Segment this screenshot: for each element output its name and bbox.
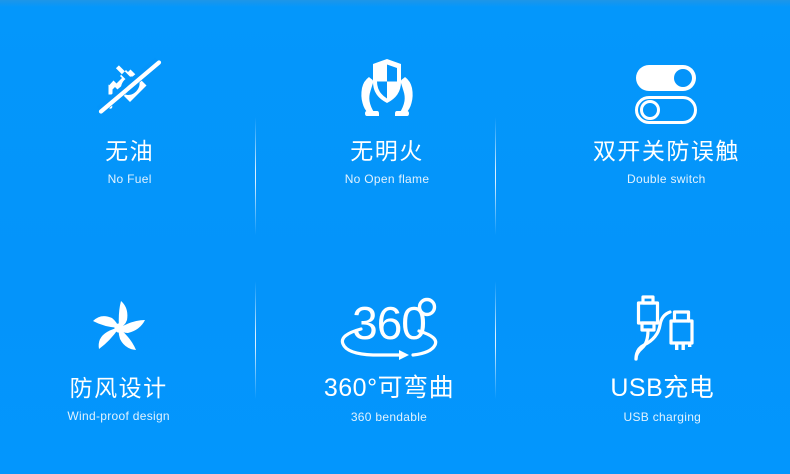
feature-title-cn: 无明火: [350, 139, 424, 164]
feature-cell-double-switch: 双开关防误触 Double switch: [535, 0, 790, 237]
feature-cell-wind-proof: 防风设计 Wind-proof design: [0, 237, 250, 474]
feature-title-cn: 防风设计: [70, 376, 168, 401]
double-toggle-switch-icon: [624, 51, 708, 127]
feature-title-en: No Fuel: [108, 172, 152, 186]
feature-cell-usb-charging: USB充电 USB charging: [531, 237, 790, 474]
usb-cable-icon: [619, 287, 705, 363]
feature-title-cn: 无油: [105, 139, 154, 164]
fuel-can-slash-icon: [90, 51, 170, 127]
feature-title-en: USB charging: [624, 410, 702, 424]
feature-title-cn: 双开关防误触: [593, 139, 740, 164]
pinwheel-fan-icon: [77, 288, 161, 364]
feature-cell-no-open-flame: 无明火 No Open flame: [255, 0, 518, 237]
shield-in-hands-icon: [343, 51, 431, 127]
360-rotation-arrow-icon: 360: [331, 287, 447, 363]
feature-title-cn: USB充电: [610, 375, 714, 403]
feature-title-cn: 360°可弯曲: [324, 375, 454, 403]
feature-cell-no-fuel: 无油 No Fuel: [0, 0, 261, 237]
feature-title-en: Double switch: [627, 172, 706, 186]
feature-title-en: 360 bendable: [351, 410, 427, 424]
feature-grid: 无油 No Fuel: [0, 0, 790, 474]
feature-cell-360-bendable: 360 360°可弯曲 360 bendable: [257, 237, 520, 474]
feature-title-en: No Open flame: [345, 172, 430, 186]
feature-title-en: Wind-proof design: [67, 409, 169, 423]
feature-banner: 无油 No Fuel: [0, 0, 790, 474]
svg-text:360: 360: [352, 297, 426, 349]
